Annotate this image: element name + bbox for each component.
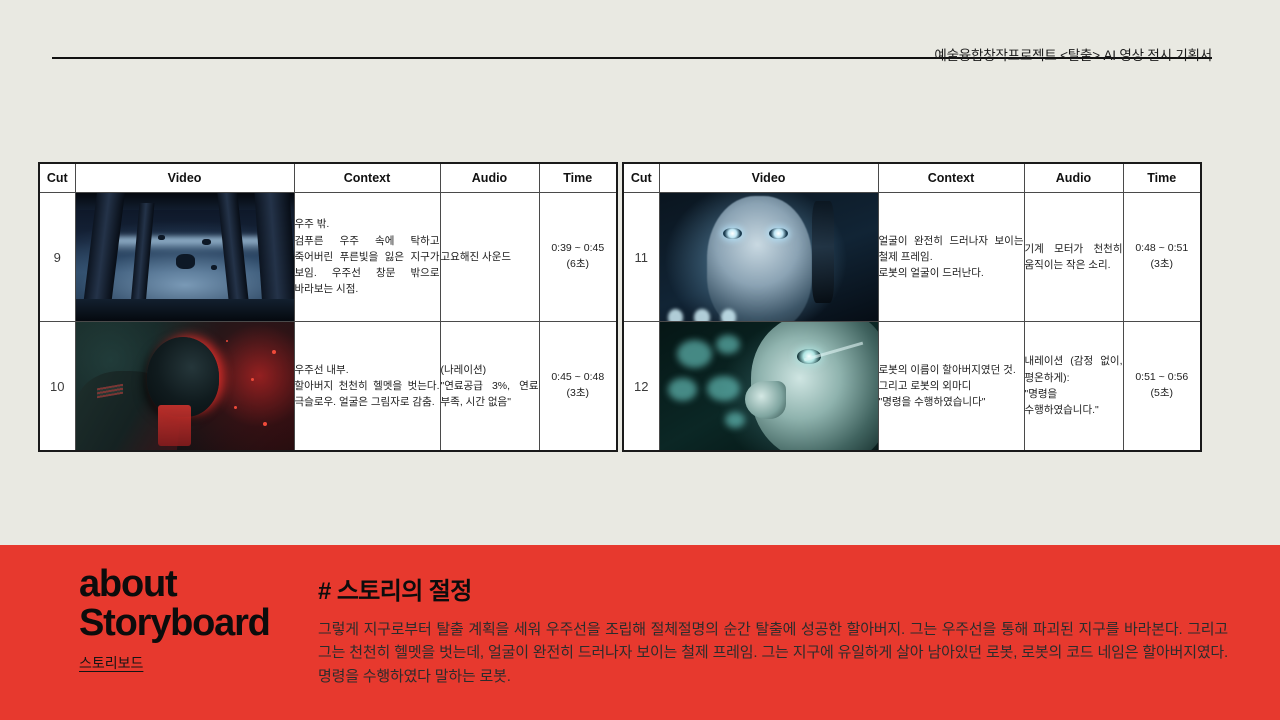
table-header-row: Cut Video Context Audio Time: [623, 163, 1201, 193]
page-title: 예술융합창작프로젝트 <탈출> AI 영상 전시 기획서: [934, 44, 1212, 64]
context-line: 그리고 로봇의 외마디: [879, 378, 1024, 394]
video-thumbnail-cell[interactable]: [75, 193, 294, 322]
old-man-profile-thumbnail: [660, 322, 878, 450]
robot-face-thumbnail: [660, 193, 878, 321]
banner-left-block: about Storyboard 스토리보드: [79, 565, 294, 673]
column-header-video: Video: [659, 163, 878, 193]
time-duration: (3초): [540, 386, 617, 402]
context-line: "명령을 수행하였습니다": [879, 394, 1024, 410]
spaceship-window-thumbnail: [76, 193, 294, 321]
audio-cell: (나레이션) "연료공급 3%, 연료 부족, 시간 없음": [440, 322, 539, 452]
time-duration: (5초): [1124, 386, 1201, 402]
context-line: 우주 밖.: [295, 216, 440, 232]
context-cell: 우주 밖. 검푸른 우주 속에 탁하고 죽어버린 푸른빛을 잃은 지구가 보임.…: [294, 193, 440, 322]
time-range: 0:48 ~ 0:51: [1124, 241, 1201, 257]
cut-number: 12: [623, 322, 659, 452]
banner-subtitle: 스토리보드: [79, 653, 294, 673]
context-line: 우주선 내부.: [295, 362, 440, 378]
time-range: 0:51 ~ 0:56: [1124, 370, 1201, 386]
audio-line: 고요해진 사운드: [441, 249, 539, 265]
banner-body-text: 그렇게 지구로부터 탈출 계획을 세워 우주선을 조립해 절체절명의 순간 탈출…: [318, 618, 1228, 688]
table-row: 12 로봇의 이름이 할아버지였던 것.: [623, 322, 1201, 452]
table-row: 11 얼굴이 완전히 드러나자 보이는 철제 프레임. 로봇의 얼굴이 드러난다: [623, 193, 1201, 322]
context-line: 로봇의 얼굴이 드러난다.: [879, 265, 1024, 281]
time-cell: 0:39 ~ 0:45 (6초): [539, 193, 617, 322]
page-header: 예술융합창작프로젝트 <탈출> AI 영상 전시 기획서: [0, 0, 1280, 80]
column-header-audio: Audio: [1024, 163, 1123, 193]
banner-title-line-1: about: [79, 565, 294, 604]
time-cell: 0:48 ~ 0:51 (3초): [1123, 193, 1201, 322]
time-cell: 0:51 ~ 0:56 (5초): [1123, 322, 1201, 452]
context-line: 할아버지 천천히 헬멧을 벗는다. 극슬로우. 얼굴은 그림자로 감춤.: [295, 378, 440, 411]
table-row: 9 우주 밖.: [39, 193, 617, 322]
time-duration: (3초): [1124, 257, 1201, 273]
time-cell: 0:45 ~ 0:48 (3초): [539, 322, 617, 452]
column-header-time: Time: [539, 163, 617, 193]
table-header-row: Cut Video Context Audio Time: [39, 163, 617, 193]
video-thumbnail-cell[interactable]: [659, 193, 878, 322]
audio-line: 수행하였습니다.": [1025, 402, 1123, 418]
audio-line: (나레이션): [441, 362, 539, 378]
audio-line: "연료공급 3%, 연료 부족, 시간 없음": [441, 378, 539, 411]
about-storyboard-banner: about Storyboard 스토리보드 # 스토리의 절정 그렇게 지구로…: [0, 545, 1280, 720]
context-cell: 우주선 내부. 할아버지 천천히 헬멧을 벗는다. 극슬로우. 얼굴은 그림자로…: [294, 322, 440, 452]
audio-cell: 내레이션 (감정 없이, 평온하게): "명령을 수행하였습니다.": [1024, 322, 1123, 452]
astronaut-thumbnail: [76, 322, 294, 450]
audio-cell: 기계 모터가 천천히 움직이는 작은 소리.: [1024, 193, 1123, 322]
audio-line: "명령을: [1025, 386, 1123, 402]
banner-title: about Storyboard: [79, 565, 294, 643]
cut-number: 10: [39, 322, 75, 452]
audio-line: 내레이션 (감정 없이, 평온하게):: [1025, 353, 1123, 386]
storyboard-table-right: Cut Video Context Audio Time 11: [622, 162, 1202, 452]
audio-line: 기계 모터가 천천히 움직이는 작은 소리.: [1025, 241, 1123, 274]
context-cell: 로봇의 이름이 할아버지였던 것. 그리고 로봇의 외마디 "명령을 수행하였습…: [878, 322, 1024, 452]
column-header-audio: Audio: [440, 163, 539, 193]
cut-number: 11: [623, 193, 659, 322]
column-header-time: Time: [1123, 163, 1201, 193]
context-line: 로봇의 이름이 할아버지였던 것.: [879, 362, 1024, 378]
cut-number: 9: [39, 193, 75, 322]
audio-cell: 고요해진 사운드: [440, 193, 539, 322]
column-header-cut: Cut: [39, 163, 75, 193]
video-thumbnail-cell[interactable]: [75, 322, 294, 452]
column-header-context: Context: [294, 163, 440, 193]
column-header-context: Context: [878, 163, 1024, 193]
banner-title-line-2: Storyboard: [79, 604, 294, 643]
storyboard-table-left: Cut Video Context Audio Time 9: [38, 162, 618, 452]
table-row: 10 우주선 내부. 할아버: [39, 322, 617, 452]
context-line: 얼굴이 완전히 드러나자 보이는 철제 프레임.: [879, 233, 1024, 266]
time-duration: (6초): [540, 257, 617, 273]
banner-right-block: # 스토리의 절정 그렇게 지구로부터 탈출 계획을 세워 우주선을 조립해 절…: [318, 571, 1228, 688]
storyboard-tables: Cut Video Context Audio Time 9: [38, 162, 1226, 452]
time-range: 0:45 ~ 0:48: [540, 370, 617, 386]
column-header-video: Video: [75, 163, 294, 193]
time-range: 0:39 ~ 0:45: [540, 241, 617, 257]
column-header-cut: Cut: [623, 163, 659, 193]
context-line: 검푸른 우주 속에 탁하고 죽어버린 푸른빛을 잃은 지구가 보임. 우주선 창…: [295, 233, 440, 298]
context-cell: 얼굴이 완전히 드러나자 보이는 철제 프레임. 로봇의 얼굴이 드러난다.: [878, 193, 1024, 322]
video-thumbnail-cell[interactable]: [659, 322, 878, 452]
banner-heading: # 스토리의 절정: [318, 571, 1228, 606]
